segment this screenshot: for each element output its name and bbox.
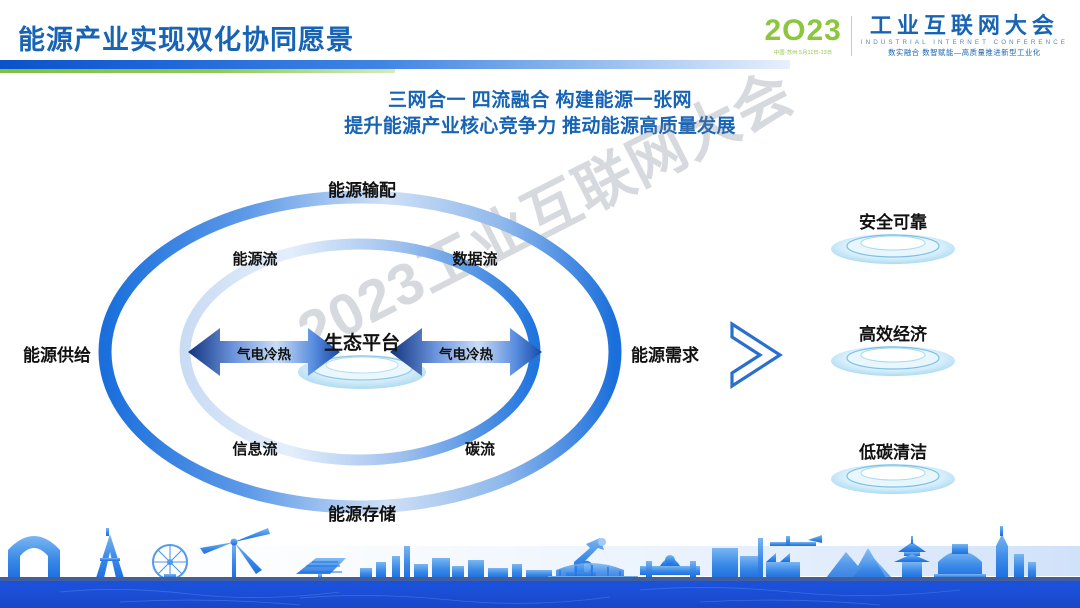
logo-year: 2O23 xyxy=(764,16,841,46)
logo-name-block: 工业互联网大会 INDUSTRIAL INTERNET CONFERENCE 数… xyxy=(861,14,1068,58)
header-rule-blue xyxy=(0,60,790,69)
diagram-label-left: 能源供给 xyxy=(2,341,112,366)
headline-line-2: 提升能源产业核心竞争力 推动能源高质量发展 xyxy=(0,114,1080,140)
diagram-label-carbon-flow: 碳流 xyxy=(435,438,525,459)
outcome-label: 高效经济 xyxy=(808,320,978,345)
outcome-item-2: 高效经济 xyxy=(808,320,978,379)
outcome-item-1: 安全可靠 xyxy=(808,208,978,267)
header-rule-green xyxy=(0,69,395,73)
outcome-plate xyxy=(808,227,978,267)
conference-logo: 2O23 中国·苏州 5月11日-13日 工业互联网大会 INDUSTRIAL … xyxy=(764,14,1068,58)
headline: 三网合一 四流融合 构建能源一张网 提升能源产业核心竞争力 推动能源高质量发展 xyxy=(0,88,1080,140)
logo-year-subtitle: 中国·苏州 5月11日-13日 xyxy=(764,49,841,56)
diagram-core-label: 生态平台 xyxy=(300,328,424,355)
diagram-label-energy-flow: 能源流 xyxy=(210,248,300,269)
energy-network-diagram: 能源输配 能源存储 能源供给 能源需求 能源流 数据流 信息流 碳流 生态平台 … xyxy=(60,168,720,536)
outcome-label: 低碳清洁 xyxy=(808,438,978,463)
outcome-plate xyxy=(808,339,978,379)
arrow-left-label: 气电冷热 xyxy=(219,343,309,363)
diagram-label-data-flow: 数据流 xyxy=(430,248,520,269)
headline-line-1: 三网合一 四流融合 构建能源一张网 xyxy=(0,88,1080,114)
outcome-plate xyxy=(808,457,978,497)
outcome-label: 安全可靠 xyxy=(808,208,978,233)
chevron-right-icon xyxy=(722,318,792,392)
diagram-label-top: 能源输配 xyxy=(312,176,412,201)
slide-canvas: 能源产业实现双化协同愿景 2O23 中国·苏州 5月11日-13日 工业互联网大… xyxy=(0,0,1080,608)
page-title: 能源产业实现双化协同愿景 xyxy=(18,18,354,57)
skyline-decoration xyxy=(0,518,1080,608)
logo-name-cn: 工业互联网大会 xyxy=(861,14,1068,37)
logo-year-block: 2O23 中国·苏州 5月11日-13日 xyxy=(764,16,841,56)
diagram-label-info-flow: 信息流 xyxy=(210,438,300,459)
logo-divider xyxy=(851,16,852,56)
outcome-item-3: 低碳清洁 xyxy=(808,438,978,497)
logo-tagline: 数实融合 数智赋能—高质量推进新型工业化 xyxy=(861,48,1068,58)
diagram-label-right: 能源需求 xyxy=(610,341,720,366)
arrow-right-label: 气电冷热 xyxy=(421,343,511,363)
logo-name-en: INDUSTRIAL INTERNET CONFERENCE xyxy=(861,39,1068,46)
